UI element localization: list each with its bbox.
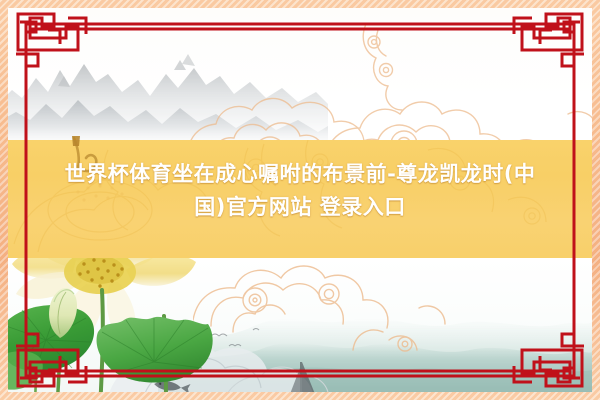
lotus-leaf [8,351,43,390]
poster-title: 世界杯体育坐在成心嘱咐的布景前-尊龙凯龙时(中 国)官方网站 登录入口 [8,132,592,250]
poster-title-line-2: 国)官方网站 登录入口 [194,191,405,224]
lotus-pond-scene [8,258,592,392]
lotus-illustration [8,258,302,392]
lotus-leaf [97,317,213,383]
poster-image: 世界杯体育坐在成心嘱咐的布景前-尊龙凯龙时(中 国)官方网站 登录入口 [0,0,600,400]
poster-title-line-1: 世界杯体育坐在成心嘱咐的布景前-尊龙凯龙时(中 [65,158,536,191]
